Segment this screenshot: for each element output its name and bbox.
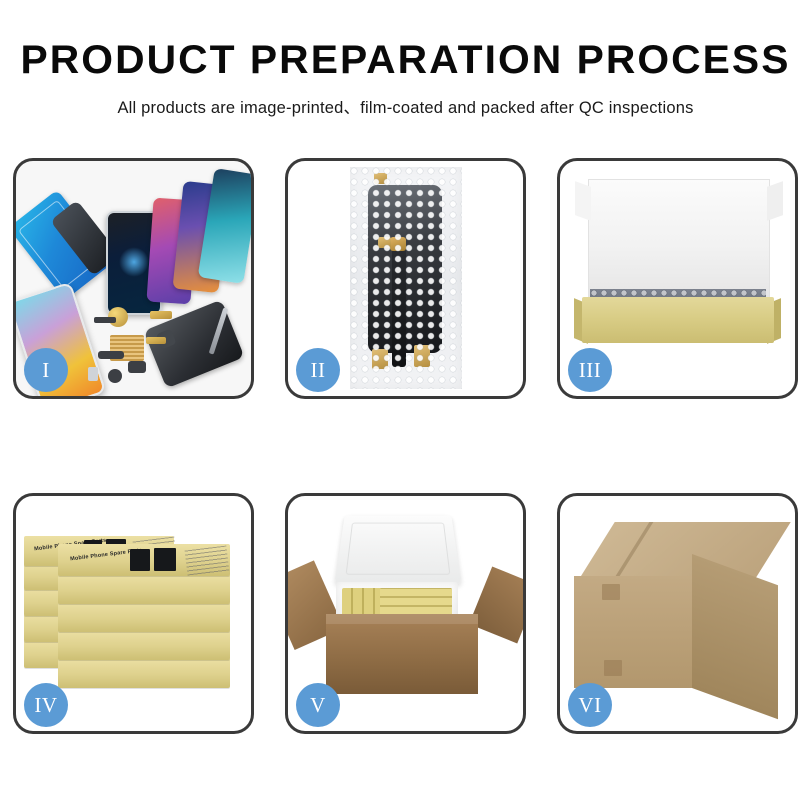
process-step-2: II: [285, 158, 526, 399]
small-part-1: [94, 317, 116, 323]
step-badge-6: VI: [568, 683, 612, 727]
page-subtitle: All products are image-printed、film-coat…: [0, 94, 811, 118]
carton-tape-lower: [604, 660, 622, 676]
step-badge-5: V: [296, 683, 340, 727]
box-lid-open: [588, 179, 770, 299]
page-title: PRODUCT PREPARATION PROCESS: [0, 40, 811, 80]
stacked-box-front: [58, 602, 230, 632]
carton-top-face: [576, 522, 791, 584]
step-badge-1: I: [24, 348, 68, 392]
step-badge-2: II: [296, 348, 340, 392]
step-badge-3: III: [568, 348, 612, 392]
process-step-1: I: [13, 158, 254, 399]
kraft-box-body: [582, 297, 774, 343]
shipping-carton-body: [326, 614, 478, 694]
product-preparation-infographic: PRODUCT PREPARATION PROCESS All products…: [0, 0, 811, 811]
process-step-6: VI: [557, 493, 798, 734]
gold-flex-part-1: [150, 311, 172, 319]
stacked-box-front: [58, 658, 230, 688]
box-label-image: [130, 549, 150, 571]
process-step-3: III: [557, 158, 798, 399]
stacked-box-front: [58, 574, 230, 604]
bubble-wrap-bag: [350, 167, 462, 389]
stacked-box-front-top: Mobile Phone Spare Parts: [58, 544, 230, 576]
box-label-spec-lines: [185, 546, 230, 577]
bubble-texture: [350, 167, 462, 389]
small-part-5: [88, 367, 98, 381]
small-part-3: [128, 361, 146, 373]
gold-flex-part-2: [146, 337, 166, 344]
foam-cooler-lid: [334, 515, 461, 584]
process-step-5: V: [285, 493, 526, 734]
carton-front-face: [574, 576, 692, 688]
box-stack: Mobile Phone Spare Parts Mobile Phone Sp…: [24, 522, 246, 712]
header: PRODUCT PREPARATION PROCESS All products…: [0, 0, 811, 118]
process-step-4: Mobile Phone Spare Parts Mobile Phone Sp…: [13, 493, 254, 734]
process-step-grid: I II: [13, 158, 798, 736]
stacked-box-front: [58, 630, 230, 660]
box-label-image: [154, 548, 176, 571]
carton-tape-upper: [602, 584, 620, 600]
step-badge-4: IV: [24, 683, 68, 727]
carton-side-face: [692, 554, 778, 719]
small-part-2: [98, 351, 124, 359]
small-part-4: [108, 369, 122, 383]
